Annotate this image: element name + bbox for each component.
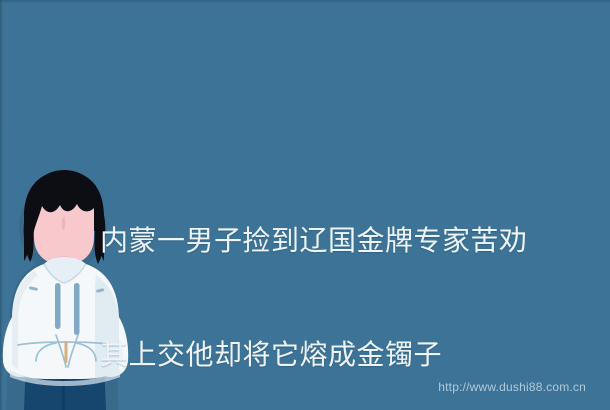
headline-line-1: 内蒙一男子捡到辽国金牌专家苦劝	[100, 222, 592, 260]
cover-canvas: 内蒙一男子捡到辽国金牌专家苦劝 其上交他却将它熔成金镯子 http://www.…	[0, 0, 610, 410]
top-edge-shadow	[0, 0, 610, 3]
watermark-url: http://www.dushi88.com.cn	[438, 380, 586, 394]
headline: 内蒙一男子捡到辽国金牌专家苦劝 其上交他却将它熔成金镯子	[100, 146, 592, 410]
headline-line-2: 其上交他却将它熔成金镯子	[100, 336, 592, 374]
drawstring-tips	[65, 341, 68, 363]
